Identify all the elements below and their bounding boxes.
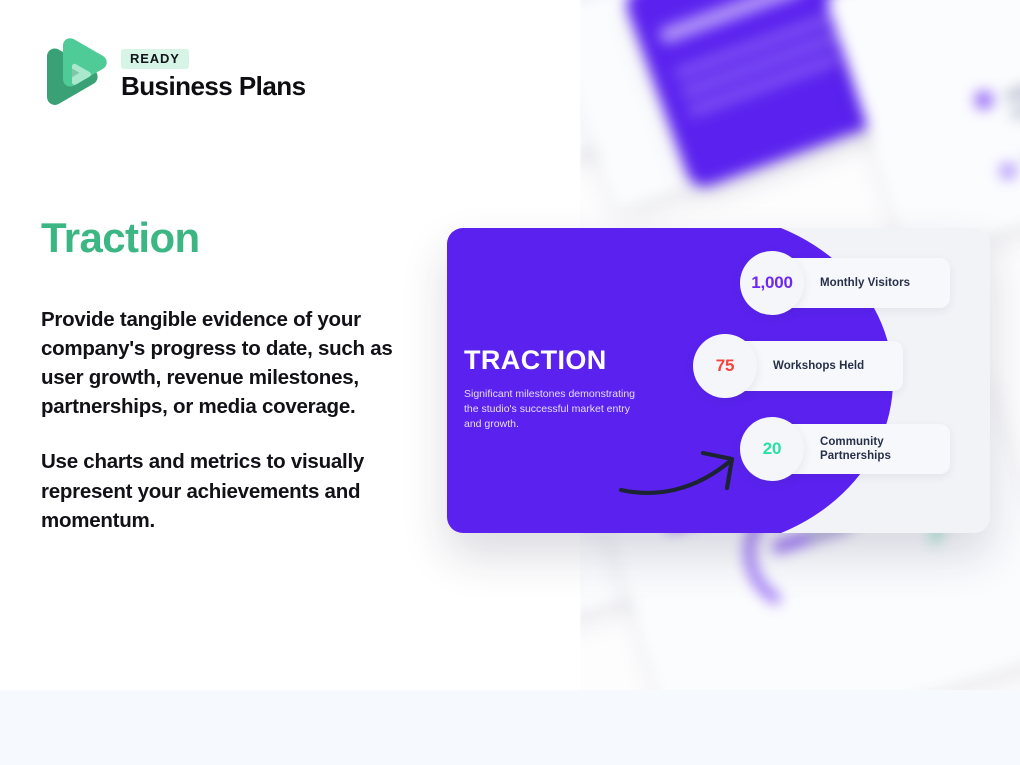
brand-name: Business Plans — [121, 72, 306, 102]
slide-panel-title: TRACTION — [464, 347, 679, 374]
metrics-list: Monthly Visitors 1,000 Workshops Held 75… — [738, 258, 990, 508]
metric-label: Workshops Held — [773, 359, 864, 373]
paragraph-1: Provide tangible evidence of your compan… — [41, 305, 426, 421]
metric-circle: 20 — [740, 417, 804, 481]
slide-preview-page: READY Business Plans Traction Provide ta… — [0, 0, 1020, 765]
metric-circle: 75 — [693, 334, 757, 398]
paragraph-2: Use charts and metrics to visually repre… — [41, 447, 426, 534]
metric-label: Community Partnerships — [820, 435, 936, 464]
metric-item[interactable]: Workshops Held 75 — [693, 341, 903, 391]
brand-lockup: READY Business Plans — [41, 38, 306, 112]
slide-panel-text: TRACTION Significant milestones demonstr… — [464, 347, 679, 432]
metric-value: 75 — [716, 356, 735, 376]
page-title: Traction — [41, 217, 200, 259]
traction-slide-card[interactable]: TRACTION Significant milestones demonstr… — [447, 228, 990, 533]
play-triangle-logo-icon — [41, 38, 107, 112]
ready-badge: READY — [121, 49, 189, 69]
brand-text: READY Business Plans — [121, 49, 306, 102]
metric-value: 1,000 — [751, 273, 793, 293]
body-copy: Provide tangible evidence of your compan… — [41, 305, 426, 535]
slide-panel-subtitle: Significant milestones demonstrating the… — [464, 387, 650, 432]
metric-item[interactable]: Monthly Visitors 1,000 — [740, 258, 950, 308]
metric-circle: 1,000 — [740, 251, 804, 315]
metric-label: Monthly Visitors — [820, 276, 910, 290]
bottom-strip — [0, 690, 1020, 765]
metric-value: 20 — [763, 439, 782, 459]
metric-item[interactable]: Community Partnerships 20 — [740, 424, 950, 474]
